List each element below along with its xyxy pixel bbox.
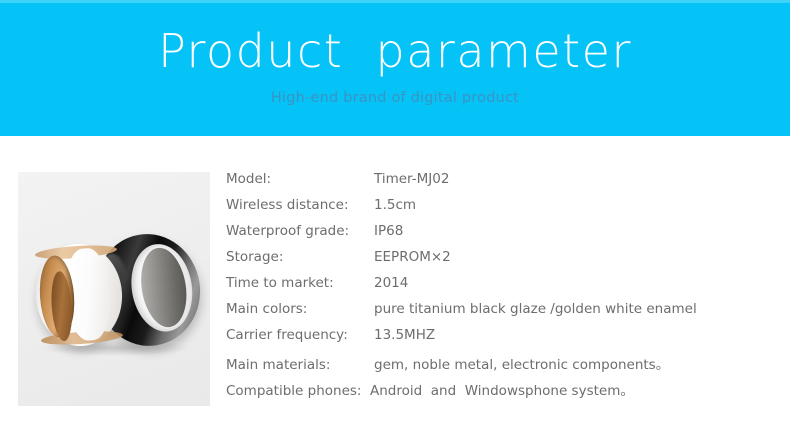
product-specification-table: Model: Timer-MJ02 Wireless distance: 1.5… <box>226 171 766 405</box>
spec-value: Timer-MJ02 <box>374 171 766 187</box>
spec-row-main-colors: Main colors: pure titanium black glaze /… <box>226 301 766 327</box>
spec-row-storage: Storage: EEPROM×2 <box>226 249 766 275</box>
product-photo <box>18 172 210 406</box>
spec-row-waterproof-grade: Waterproof grade: IP68 <box>226 223 766 249</box>
spec-row-wireless-distance: Wireless distance: 1.5cm <box>226 197 766 223</box>
spec-label: Storage: <box>226 249 283 265</box>
banner-top-accent-line <box>0 0 790 3</box>
spec-label: Waterproof grade: <box>226 223 349 239</box>
spec-value: 2014 <box>374 275 766 291</box>
spec-label: Main colors: <box>226 301 307 317</box>
spec-value: pure titanium black glaze /golden white … <box>374 301 766 317</box>
spec-label: Main materials: <box>226 357 330 373</box>
spec-value: 1.5cm <box>374 197 766 213</box>
spec-value: 13.5MHZ <box>374 327 766 343</box>
white-ring-bore-shadow <box>49 271 74 342</box>
spec-value: Android and Windowsphone system。 <box>370 379 766 399</box>
spec-value: EEPROM×2 <box>374 249 766 265</box>
spec-value: IP68 <box>374 223 766 239</box>
spec-row-model: Model: Timer-MJ02 <box>226 171 766 197</box>
spec-value: gem, noble metal, electronic components。 <box>374 353 766 373</box>
spec-label: Carrier frequency: <box>226 327 348 343</box>
page-header-banner: Product parameter High-end brand of digi… <box>0 0 790 136</box>
page-subtitle: High-end brand of digital product <box>0 88 790 108</box>
spec-row-time-to-market: Time to market: 2014 <box>226 275 766 301</box>
spec-row-compatible-phones: Compatible phones: Android and Windowsph… <box>226 379 766 405</box>
spec-label: Model: <box>226 171 271 187</box>
spec-row-main-materials: Main materials: gem, noble metal, electr… <box>226 353 766 379</box>
spec-row-carrier-frequency: Carrier frequency: 13.5MHZ <box>226 327 766 353</box>
spec-label: Compatible phones: <box>226 383 361 399</box>
spec-label: Time to market: <box>226 275 334 291</box>
spec-label: Wireless distance: <box>226 197 349 213</box>
page-title: Product parameter <box>0 24 790 78</box>
